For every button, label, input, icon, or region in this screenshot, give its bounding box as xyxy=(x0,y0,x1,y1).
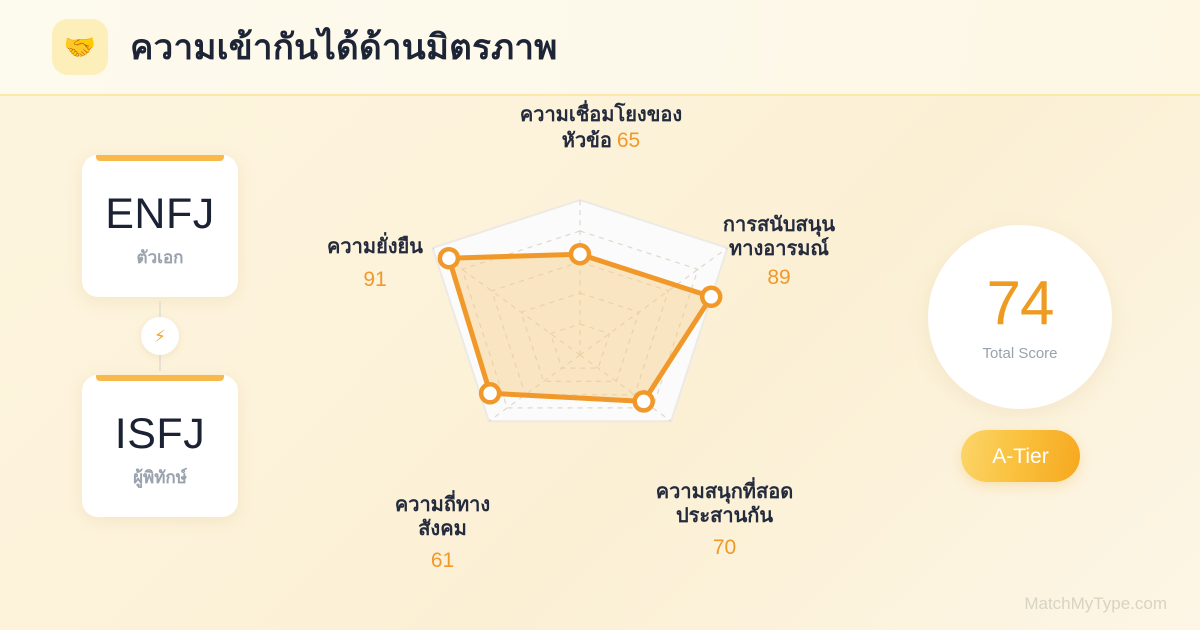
type-card-second[interactable]: ISFJ ผู้พิทักษ์ xyxy=(82,375,238,517)
radar-label-value: 91 xyxy=(316,267,434,292)
radar-label-sustainability: ความยั่งยืน 91 xyxy=(316,236,434,292)
tier-badge-label: A-Tier xyxy=(992,446,1048,467)
radar-point-shared-fun xyxy=(635,392,653,410)
tier-badge: A-Tier xyxy=(961,430,1080,482)
type-code-first: ENFJ xyxy=(105,193,215,236)
radar-label-text: ความเชื่อมโยงของหัวข้อ xyxy=(520,104,682,152)
type-card-first[interactable]: ENFJ ตัวเอก xyxy=(82,155,238,297)
header-bar: 🤝 ความเข้ากันได้ด้านมิตรภาพ xyxy=(0,0,1200,96)
types-connector: ⚡ xyxy=(82,297,238,375)
radar-point-emotional-support xyxy=(702,288,720,306)
radar-label-text: ความยั่งยืน xyxy=(327,236,423,258)
radar-label-shared-fun: ความสนุกที่สอดประสานกัน 70 xyxy=(652,481,797,560)
total-score-caption: Total Score xyxy=(982,346,1057,361)
radar-label-topic-connection: ความเชื่อมโยงของหัวข้อ65 xyxy=(496,104,706,153)
type-code-second: ISFJ xyxy=(115,413,205,456)
total-score-value: 74 xyxy=(987,273,1054,335)
type-nickname-second: ผู้พิทักษ์ xyxy=(133,469,187,486)
handshake-icon: 🤝 xyxy=(52,19,108,75)
personality-types-column: ENFJ ตัวเอก ⚡ ISFJ ผู้พิทักษ์ xyxy=(82,155,238,517)
radar-label-text: ความถี่ทางสังคม xyxy=(395,494,490,540)
compatibility-result-card: 🤝 ความเข้ากันได้ด้านมิตรภาพ ENFJ ตัวเอก … xyxy=(0,0,1200,630)
radar-label-social-frequency: ความถี่ทางสังคม 61 xyxy=(375,494,510,573)
total-score-circle: 74 Total Score xyxy=(928,225,1112,409)
page-title: ความเข้ากันได้ด้านมิตรภาพ xyxy=(130,20,558,75)
radar-label-value: 89 xyxy=(714,265,844,290)
radar-point-topic-connection xyxy=(571,245,589,263)
lightning-bolt-icon: ⚡ xyxy=(141,317,179,355)
radar-label-emotional-support: การสนับสนุนทางอารมณ์ 89 xyxy=(714,214,844,290)
type-nickname-first: ตัวเอก xyxy=(137,249,184,266)
radar-chart: ความเชื่อมโยงของหัวข้อ65 การสนับสนุนทางอ… xyxy=(300,96,880,630)
radar-point-social-frequency xyxy=(481,384,499,402)
watermark: MatchMyType.com xyxy=(1024,595,1167,612)
radar-label-value: 65 xyxy=(617,129,640,152)
radar-label-text: ความสนุกที่สอดประสานกัน xyxy=(656,481,793,527)
radar-label-value: 61 xyxy=(375,548,510,573)
radar-label-text: การสนับสนุนทางอารมณ์ xyxy=(723,214,835,260)
radar-label-value: 70 xyxy=(652,535,797,560)
radar-point-sustainability xyxy=(440,249,458,267)
